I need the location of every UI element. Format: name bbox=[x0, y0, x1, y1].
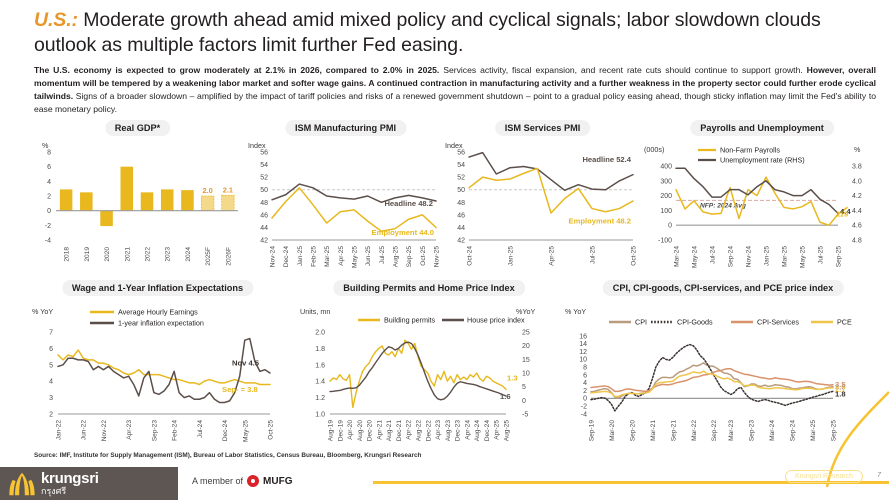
svg-text:0: 0 bbox=[47, 208, 51, 215]
chart-payrolls: (000s)%4003002001000-1003.84.04.24.44.64… bbox=[642, 136, 882, 286]
panel-wage: Wage and 1-Year Inflation Expectations %… bbox=[30, 278, 285, 461]
svg-text:5: 5 bbox=[49, 362, 53, 369]
panel-ism-manufacturing: ISM Manufacturing PMI Index5654525048464… bbox=[248, 118, 443, 286]
svg-text:15: 15 bbox=[522, 357, 530, 364]
svg-text:54: 54 bbox=[260, 162, 268, 169]
svg-text:CPI: CPI bbox=[635, 318, 647, 327]
svg-text:8: 8 bbox=[47, 150, 51, 157]
svg-text:1.2: 1.2 bbox=[315, 395, 325, 402]
svg-text:Sep- = 3.8: Sep- = 3.8 bbox=[222, 385, 258, 394]
svg-text:12: 12 bbox=[579, 349, 587, 356]
payrolls-svg: (000s)%4003002001000-1003.84.04.24.44.64… bbox=[642, 136, 882, 286]
svg-text:Sep-20: Sep-20 bbox=[629, 420, 636, 442]
svg-text:2018: 2018 bbox=[64, 247, 71, 262]
research-watermark: Krungsri Research bbox=[785, 470, 863, 483]
svg-text:-2: -2 bbox=[45, 223, 51, 230]
source-note: Source: IMF, Institute for Supply Manage… bbox=[34, 452, 421, 459]
svg-text:1.0: 1.0 bbox=[315, 412, 325, 419]
svg-text:10: 10 bbox=[579, 357, 587, 364]
svg-text:Sep-25: Sep-25 bbox=[406, 246, 413, 268]
gdp-bar bbox=[181, 190, 194, 211]
svg-text:100: 100 bbox=[660, 208, 672, 215]
svg-text:4.4: 4.4 bbox=[852, 208, 862, 215]
svg-text:Mar-24: Mar-24 bbox=[674, 246, 681, 267]
building-permits-svg: Units, mn%YoY2.01.81.61.41.21.0252015105… bbox=[300, 296, 558, 461]
gdp-bar bbox=[201, 196, 214, 211]
svg-text:2.1: 2.1 bbox=[223, 185, 233, 194]
svg-text:300: 300 bbox=[660, 178, 672, 185]
svg-text:2021: 2021 bbox=[124, 247, 131, 262]
svg-text:Units, mn: Units, mn bbox=[300, 307, 330, 316]
svg-text:2026F: 2026F bbox=[225, 247, 232, 266]
svg-text:Oct-25: Oct-25 bbox=[420, 246, 427, 266]
svg-text:May-24: May-24 bbox=[692, 246, 699, 268]
panel-ism-services: ISM Services PMI Index5654525048464442Oc… bbox=[445, 118, 640, 286]
svg-text:Aug-25: Aug-25 bbox=[504, 420, 511, 442]
svg-text:44: 44 bbox=[457, 225, 465, 232]
svg-text:56: 56 bbox=[457, 150, 465, 157]
svg-text:Dec-24: Dec-24 bbox=[222, 420, 229, 442]
svg-text:2025F: 2025F bbox=[205, 247, 212, 266]
krungsri-logo: krungsri กรุงศรี bbox=[0, 467, 178, 500]
svg-text:Mar-23: Mar-23 bbox=[728, 420, 735, 441]
krungsri-logo-icon bbox=[8, 471, 36, 497]
lede-plain-2: Signs of a broader slowdown – amplified … bbox=[34, 91, 876, 114]
panel-title-ism-services: ISM Services PMI bbox=[495, 120, 591, 136]
svg-text:(000s): (000s) bbox=[644, 145, 664, 154]
svg-text:3.8: 3.8 bbox=[852, 164, 862, 171]
svg-text:50: 50 bbox=[260, 187, 268, 194]
svg-text:Apr-23: Apr-23 bbox=[435, 420, 442, 440]
svg-text:Mar-22: Mar-22 bbox=[691, 420, 698, 441]
page-number: 7 bbox=[877, 472, 881, 479]
svg-text:Mar-25: Mar-25 bbox=[324, 246, 331, 267]
svg-text:54: 54 bbox=[457, 162, 465, 169]
svg-text:% YoY: % YoY bbox=[32, 307, 53, 316]
svg-text:46: 46 bbox=[457, 212, 465, 219]
summary-paragraph: The U.S. economy is expected to grow mod… bbox=[34, 64, 876, 116]
svg-text:Aug-22: Aug-22 bbox=[416, 420, 423, 442]
svg-text:Jul-25: Jul-25 bbox=[818, 246, 825, 264]
svg-text:2024: 2024 bbox=[185, 247, 192, 262]
svg-text:Nov-24: Nov-24 bbox=[270, 246, 277, 268]
svg-text:52: 52 bbox=[457, 175, 465, 182]
svg-text:CPI-Goods: CPI-Goods bbox=[677, 318, 713, 327]
svg-text:-5: -5 bbox=[522, 412, 528, 419]
svg-text:Feb-24: Feb-24 bbox=[172, 420, 179, 441]
svg-text:2: 2 bbox=[47, 194, 51, 201]
svg-text:Apr-25: Apr-25 bbox=[338, 246, 345, 266]
svg-text:2: 2 bbox=[583, 388, 587, 395]
svg-text:Sep-24: Sep-24 bbox=[790, 420, 797, 442]
svg-text:Nov-25: Nov-25 bbox=[434, 246, 441, 268]
svg-text:Aug-20: Aug-20 bbox=[357, 420, 364, 442]
svg-text:Headline 48.2: Headline 48.2 bbox=[384, 199, 433, 208]
svg-text:Mar-24: Mar-24 bbox=[769, 420, 776, 441]
gdp-bar bbox=[100, 211, 113, 226]
building-permits-line bbox=[330, 340, 506, 407]
svg-text:Sep-25: Sep-25 bbox=[831, 420, 838, 442]
svg-text:56: 56 bbox=[260, 150, 268, 157]
chart-cpi: % YoY1614121086420-2-4CPICPI-GoodsCPI-Se… bbox=[565, 296, 881, 461]
svg-text:Apr-20: Apr-20 bbox=[347, 420, 354, 440]
mufg-member-note: A member of MUFG bbox=[192, 475, 292, 487]
svg-text:2.0: 2.0 bbox=[315, 330, 325, 337]
panel-real-gdp: Real GDP* %86420-2-420182019202020212022… bbox=[30, 118, 245, 286]
svg-text:48: 48 bbox=[457, 200, 465, 207]
svg-text:Mar-25: Mar-25 bbox=[782, 246, 789, 267]
Employment-line bbox=[272, 188, 436, 231]
gdp-bar bbox=[161, 189, 174, 210]
svg-text:Sep-21: Sep-21 bbox=[670, 420, 677, 442]
svg-text:Jan-25: Jan-25 bbox=[764, 246, 771, 266]
svg-text:Jan-22: Jan-22 bbox=[56, 420, 63, 440]
svg-text:Sep-23: Sep-23 bbox=[749, 420, 756, 442]
svg-text:4.8: 4.8 bbox=[852, 238, 862, 245]
svg-text:4.0: 4.0 bbox=[852, 178, 862, 185]
cpi-svg: % YoY1614121086420-2-4CPICPI-GoodsCPI-Se… bbox=[565, 296, 881, 461]
svg-text:Nov-24: Nov-24 bbox=[746, 246, 753, 268]
mufg-icon bbox=[247, 475, 259, 487]
lede-bold-1: The U.S. economy is expected to grow mod… bbox=[34, 65, 439, 75]
headline-text: Moderate growth ahead amid mixed policy … bbox=[34, 9, 821, 56]
gdp-bar bbox=[121, 167, 134, 211]
svg-text:Feb-25: Feb-25 bbox=[311, 246, 318, 267]
svg-text:Mar-20: Mar-20 bbox=[609, 420, 616, 441]
svg-text:Sep-19: Sep-19 bbox=[589, 420, 596, 442]
svg-text:Aug-25: Aug-25 bbox=[393, 246, 400, 268]
svg-text:6: 6 bbox=[583, 372, 587, 379]
svg-text:1-year inflation expectation: 1-year inflation expectation bbox=[118, 319, 204, 328]
svg-text:Apr-22: Apr-22 bbox=[406, 420, 413, 440]
svg-text:Nov 4.5: Nov 4.5 bbox=[232, 359, 260, 368]
svg-text:Jul-24: Jul-24 bbox=[197, 420, 204, 438]
PCE-line bbox=[591, 371, 833, 396]
svg-text:1.8: 1.8 bbox=[315, 346, 325, 353]
gdp-bar bbox=[80, 192, 93, 210]
mufg-label: MUFG bbox=[263, 476, 292, 487]
svg-text:CPI-Services: CPI-Services bbox=[757, 318, 799, 327]
svg-text:Employment 44.0: Employment 44.0 bbox=[372, 228, 434, 237]
panel-title-real-gdp: Real GDP* bbox=[105, 120, 170, 136]
svg-text:Non-Farm Payrolls: Non-Farm Payrolls bbox=[720, 146, 780, 155]
svg-text:14: 14 bbox=[579, 341, 587, 348]
panel-cpi: CPI, CPI-goods, CPI-services, and PCE pr… bbox=[565, 278, 881, 461]
chart-wage: % YoY765432Average Hourly Earnings1-year… bbox=[30, 296, 285, 461]
svg-text:Jan-25: Jan-25 bbox=[297, 246, 304, 266]
svg-text:25: 25 bbox=[522, 330, 530, 337]
svg-text:% YoY: % YoY bbox=[565, 307, 586, 316]
svg-text:Sep-22: Sep-22 bbox=[711, 420, 718, 442]
svg-text:House price index: House price index bbox=[467, 316, 525, 325]
svg-text:-4: -4 bbox=[45, 238, 51, 245]
svg-text:6: 6 bbox=[49, 346, 53, 353]
svg-text:0: 0 bbox=[522, 398, 526, 405]
svg-text:2022: 2022 bbox=[145, 247, 152, 262]
svg-text:Average Hourly Earnings: Average Hourly Earnings bbox=[118, 308, 198, 317]
page-title: U.S.: Moderate growth ahead amid mixed p… bbox=[34, 8, 874, 58]
svg-text:52: 52 bbox=[260, 175, 268, 182]
svg-text:Aug-23: Aug-23 bbox=[445, 420, 452, 442]
svg-text:2020: 2020 bbox=[104, 247, 111, 262]
gdp-bar bbox=[222, 195, 235, 210]
svg-text:Dec-22: Dec-22 bbox=[425, 420, 432, 442]
svg-text:48: 48 bbox=[260, 200, 268, 207]
svg-text:44: 44 bbox=[260, 225, 268, 232]
svg-text:Aug-24: Aug-24 bbox=[474, 420, 481, 442]
svg-text:Dec-19: Dec-19 bbox=[337, 420, 344, 442]
svg-text:May-25: May-25 bbox=[242, 420, 249, 442]
svg-text:Dec-23: Dec-23 bbox=[455, 420, 462, 442]
panel-title-ism-manufacturing: ISM Manufacturing PMI bbox=[285, 120, 406, 136]
svg-text:1.4: 1.4 bbox=[315, 379, 325, 386]
svg-text:Apr-25: Apr-25 bbox=[494, 420, 501, 440]
footer-bar: krungsri กรุงศรี A member of MUFG bbox=[0, 467, 889, 500]
svg-text:Headline 52.4: Headline 52.4 bbox=[582, 155, 631, 164]
svg-text:Sep-24: Sep-24 bbox=[728, 246, 735, 268]
svg-text:3: 3 bbox=[49, 395, 53, 402]
panel-title-building-permits: Building Permits and Home Price Index bbox=[333, 280, 525, 296]
CPI-Goods-line bbox=[591, 345, 833, 411]
svg-text:400: 400 bbox=[660, 164, 672, 171]
svg-text:Aug-21: Aug-21 bbox=[386, 420, 393, 442]
svg-text:Unemployment rate (RHS): Unemployment rate (RHS) bbox=[720, 156, 805, 165]
svg-text:16: 16 bbox=[579, 333, 587, 340]
svg-text:42: 42 bbox=[457, 238, 465, 245]
svg-text:Jun-25: Jun-25 bbox=[365, 246, 372, 266]
svg-text:Jan-25: Jan-25 bbox=[508, 246, 515, 266]
svg-text:Jul-25: Jul-25 bbox=[379, 246, 386, 264]
svg-text:4.6: 4.6 bbox=[852, 223, 862, 230]
svg-text:Aug-19: Aug-19 bbox=[328, 420, 335, 442]
svg-text:0: 0 bbox=[583, 396, 587, 403]
ism-manufacturing-svg: Index5654525048464442Nov-24Dec-24Jan-25F… bbox=[248, 136, 443, 286]
svg-text:50: 50 bbox=[457, 187, 465, 194]
svg-text:4.2: 4.2 bbox=[852, 193, 862, 200]
svg-text:2023: 2023 bbox=[165, 247, 172, 262]
svg-text:42: 42 bbox=[260, 238, 268, 245]
chart-real-gdp: %86420-2-420182019202020212022202320242.… bbox=[30, 136, 245, 286]
ism-services-svg: Index5654525048464442Oct-24Jan-25Apr-25J… bbox=[445, 136, 640, 286]
svg-text:Dec-24: Dec-24 bbox=[484, 420, 491, 442]
panel-title-wage: Wage and 1-Year Inflation Expectations bbox=[62, 280, 253, 296]
svg-text:2: 2 bbox=[49, 412, 53, 419]
slide-root: U.S.: Moderate growth ahead amid mixed p… bbox=[0, 0, 889, 500]
svg-text:-4: -4 bbox=[581, 411, 587, 418]
wage-svg: % YoY765432Average Hourly Earnings1-year… bbox=[30, 296, 285, 461]
svg-text:20: 20 bbox=[522, 343, 530, 350]
chart-ism-manufacturing: Index5654525048464442Nov-24Dec-24Jan-25F… bbox=[248, 136, 443, 286]
svg-text:Apr-23: Apr-23 bbox=[126, 420, 133, 440]
svg-text:Oct-25: Oct-25 bbox=[631, 246, 638, 266]
svg-text:Dec-21: Dec-21 bbox=[396, 420, 403, 442]
lede-plain-1: Services activity, fiscal expansion, and… bbox=[439, 65, 806, 75]
svg-text:Nov-22: Nov-22 bbox=[101, 420, 108, 442]
svg-text:Dec-24: Dec-24 bbox=[283, 246, 290, 268]
svg-text:4: 4 bbox=[583, 380, 587, 387]
svg-text:Oct-24: Oct-24 bbox=[467, 246, 474, 266]
svg-text:1.6: 1.6 bbox=[500, 392, 511, 401]
logo-name-en: krungsri bbox=[41, 471, 99, 486]
svg-text:Building permits: Building permits bbox=[384, 316, 436, 325]
svg-text:Mar-21: Mar-21 bbox=[650, 420, 657, 441]
svg-text:%: % bbox=[854, 145, 861, 154]
svg-text:Dec-20: Dec-20 bbox=[367, 420, 374, 442]
gdp-bar bbox=[60, 189, 73, 210]
svg-text:2.0: 2.0 bbox=[203, 186, 213, 195]
svg-text:Sep-25: Sep-25 bbox=[836, 246, 843, 268]
chart-ism-services: Index5654525048464442Oct-24Jan-25Apr-25J… bbox=[445, 136, 640, 286]
svg-text:PCE: PCE bbox=[837, 318, 852, 327]
svg-text:Sep-23: Sep-23 bbox=[151, 420, 158, 442]
svg-text:-100: -100 bbox=[658, 238, 672, 245]
svg-text:Jun-22: Jun-22 bbox=[81, 420, 88, 440]
CPI-line bbox=[591, 363, 833, 398]
svg-text:1.6: 1.6 bbox=[315, 362, 325, 369]
logo-name-th: กรุงศรี bbox=[41, 487, 99, 496]
svg-text:Oct-25: Oct-25 bbox=[268, 420, 275, 440]
svg-text:Employment 48.2: Employment 48.2 bbox=[569, 217, 631, 226]
svg-text:Mar-25: Mar-25 bbox=[810, 420, 817, 441]
svg-text:0: 0 bbox=[668, 223, 672, 230]
svg-text:1.8: 1.8 bbox=[835, 389, 846, 398]
svg-text:46: 46 bbox=[260, 212, 268, 219]
svg-text:2019: 2019 bbox=[84, 247, 91, 262]
svg-text:8: 8 bbox=[583, 365, 587, 372]
panel-payrolls: Payrolls and Unemployment (000s)%4003002… bbox=[642, 118, 882, 286]
panel-title-payrolls: Payrolls and Unemployment bbox=[690, 120, 834, 136]
svg-text:Jul-25: Jul-25 bbox=[590, 246, 597, 264]
svg-text:7: 7 bbox=[49, 330, 53, 337]
svg-text:119: 119 bbox=[836, 209, 848, 218]
svg-text:May-25: May-25 bbox=[800, 246, 807, 268]
svg-text:1.3: 1.3 bbox=[507, 373, 518, 382]
svg-text:200: 200 bbox=[660, 193, 672, 200]
region-prefix: U.S.: bbox=[34, 9, 78, 31]
svg-text:Apr-21: Apr-21 bbox=[376, 420, 383, 440]
svg-text:10: 10 bbox=[522, 371, 530, 378]
svg-text:4: 4 bbox=[47, 179, 51, 186]
svg-text:Apr-25: Apr-25 bbox=[549, 246, 556, 266]
svg-text:Jul-24: Jul-24 bbox=[710, 246, 717, 264]
panel-title-cpi: CPI, CPI-goods, CPI-services, and PCE pr… bbox=[603, 280, 844, 296]
svg-text:-2: -2 bbox=[581, 404, 587, 411]
svg-text:4: 4 bbox=[49, 379, 53, 386]
gdp-bar bbox=[141, 192, 154, 210]
Employment-line bbox=[469, 168, 633, 213]
svg-text:Apr-24: Apr-24 bbox=[464, 420, 471, 440]
krungsri-wordmark: krungsri กรุงศรี bbox=[41, 471, 99, 496]
member-of-label: A member of bbox=[192, 476, 243, 486]
panel-building-permits: Building Permits and Home Price Index Un… bbox=[300, 278, 558, 461]
real-gdp-svg: %86420-2-420182019202020212022202320242.… bbox=[30, 136, 245, 286]
svg-text:5: 5 bbox=[522, 384, 526, 391]
svg-text:6: 6 bbox=[47, 164, 51, 171]
svg-text:May-25: May-25 bbox=[352, 246, 359, 268]
chart-building-permits: Units, mn%YoY2.01.81.61.41.21.0252015105… bbox=[300, 296, 558, 461]
